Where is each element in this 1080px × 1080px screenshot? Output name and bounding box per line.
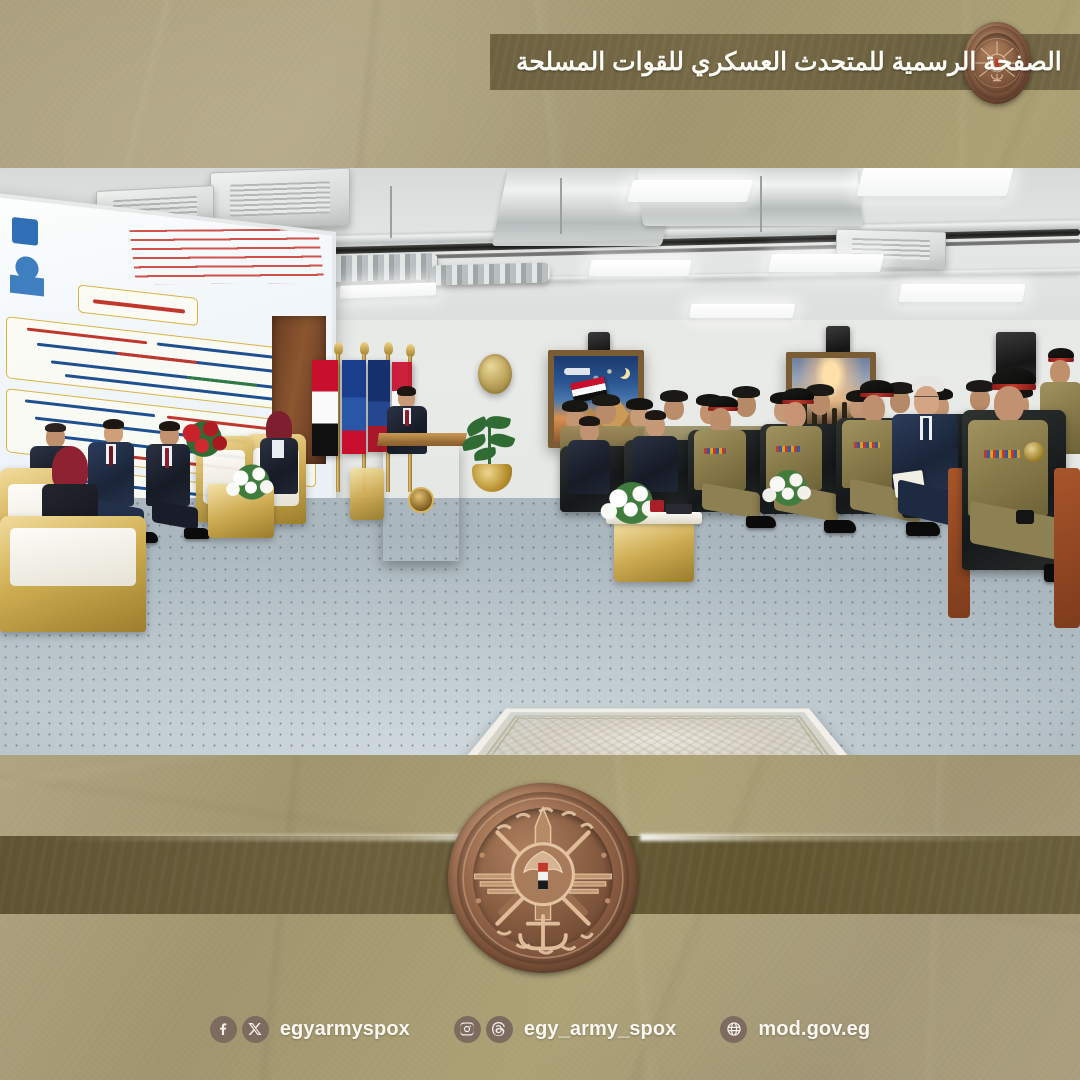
- ceiling-light: [689, 304, 795, 318]
- ac-grill: [230, 182, 329, 217]
- ceiling-light: [627, 180, 753, 202]
- officer-head: [862, 395, 885, 422]
- red-box: [650, 500, 664, 512]
- threads-icon[interactable]: [486, 1016, 513, 1043]
- attendee-hair: [103, 419, 124, 429]
- officer-head: [784, 402, 806, 428]
- armed-forces-flag: [342, 360, 366, 454]
- gold-armchair-foreground: [0, 516, 146, 632]
- social-group-instagram-threads: egy_army_spox: [454, 1016, 677, 1043]
- officer-torso: [694, 430, 746, 490]
- white-flower-arrangement: [760, 468, 818, 508]
- white-flower-arrangement: [224, 462, 280, 502]
- podium-emblem: [408, 487, 434, 513]
- wall-medal-plaque: [478, 354, 512, 394]
- hanger-rod: [560, 178, 562, 234]
- wristwatch: [1016, 510, 1034, 524]
- crescent-moon: [615, 366, 626, 377]
- eyeglasses: [914, 396, 938, 402]
- event-photo: [0, 168, 1080, 755]
- light-streak-right: [640, 834, 1080, 841]
- globe-icon[interactable]: [720, 1016, 747, 1043]
- instagram-icon[interactable]: [454, 1016, 481, 1043]
- social-group-facebook-x: egyarmyspox: [210, 1016, 410, 1043]
- social-links-bar: egyarmyspox egy_army_spox mod.gov.eg: [0, 1008, 1080, 1050]
- podium: [383, 443, 459, 561]
- officer-head: [994, 386, 1024, 422]
- shoulder-insignia: [1024, 442, 1044, 462]
- slide-header-text: [129, 228, 324, 284]
- social-handle-instagram-threads[interactable]: egy_army_spox: [524, 1018, 677, 1041]
- plant-pot: [472, 464, 512, 492]
- officer-torso: [968, 420, 1048, 516]
- books-on-table: [666, 504, 692, 514]
- social-handle-facebook-x[interactable]: egyarmyspox: [280, 1018, 410, 1041]
- slide-logo: [12, 217, 38, 246]
- slide-avatar: [10, 255, 44, 297]
- chair-wood-arm: [1054, 468, 1080, 628]
- emblem-artwork: [448, 783, 638, 973]
- gold-side-table: [614, 520, 694, 582]
- ceiling-light: [768, 254, 884, 272]
- attendee-hair: [45, 423, 66, 432]
- attendee-hair: [159, 421, 180, 431]
- social-handle-website[interactable]: mod.gov.eg: [758, 1018, 870, 1041]
- x-icon[interactable]: [242, 1016, 269, 1043]
- egyptian-armed-forces-emblem: [448, 783, 638, 973]
- egypt-flag: [312, 360, 338, 456]
- social-group-website: mod.gov.eg: [720, 1016, 870, 1043]
- medal-ribbons: [984, 450, 1020, 458]
- potted-plant: [460, 416, 522, 494]
- hanger-rod: [760, 176, 762, 232]
- airplane-in-painting: [564, 368, 590, 375]
- slide-heading-box: [78, 284, 198, 326]
- insulated-duct: [430, 262, 550, 285]
- speaker-tie: [405, 410, 409, 426]
- facebook-icon[interactable]: [210, 1016, 237, 1043]
- ceiling-light: [857, 168, 1014, 196]
- ceiling-light: [588, 260, 691, 276]
- gold-stool: [350, 468, 384, 520]
- attendee-man-suit: [140, 424, 200, 564]
- speaker-hair: [397, 386, 416, 396]
- page-title: الصفحة الرسمية للمتحدث العسكري للقوات ال…: [516, 47, 1062, 77]
- ceiling-light: [898, 284, 1025, 302]
- hanger-rod: [390, 186, 392, 238]
